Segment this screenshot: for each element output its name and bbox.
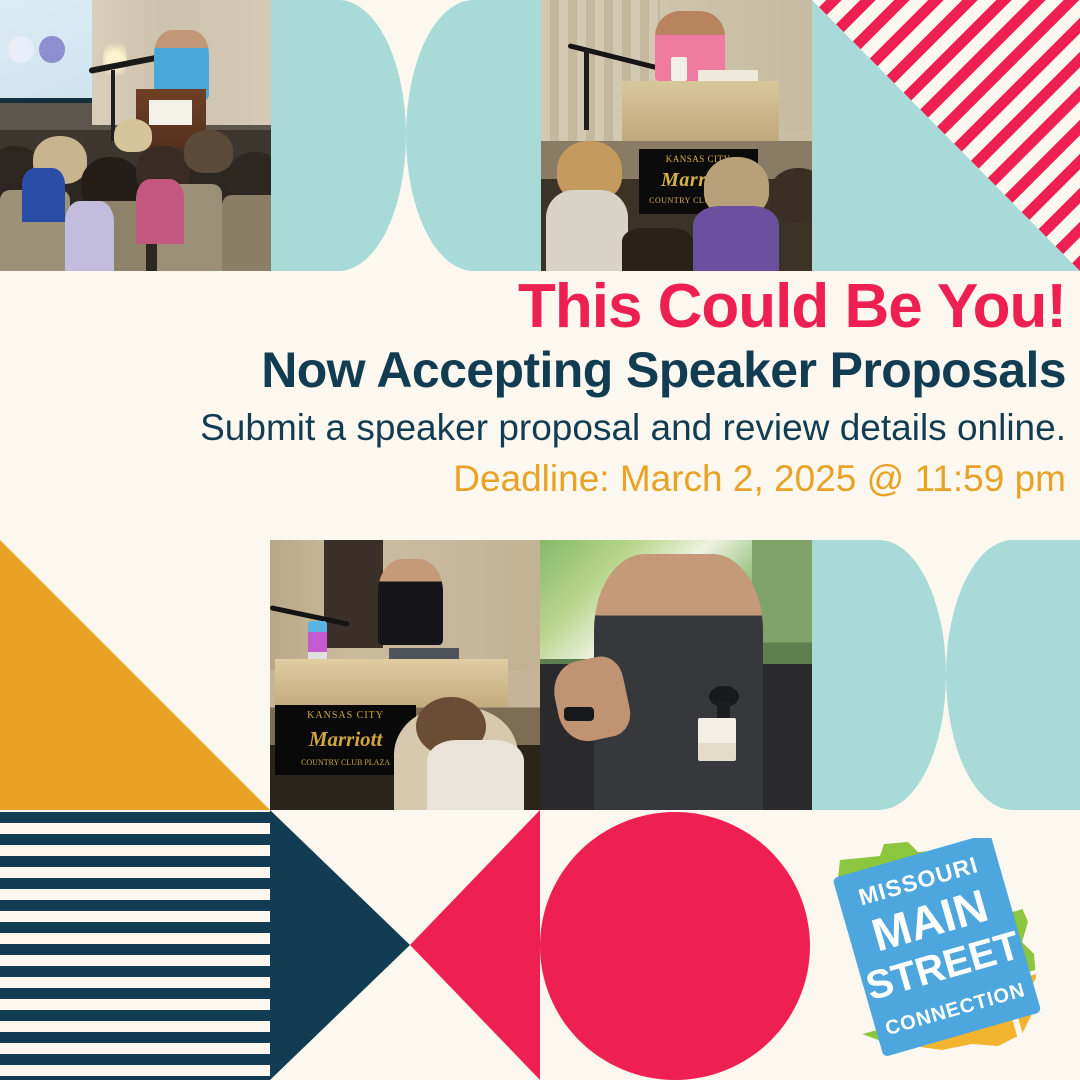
missouri-main-street-connection-logo: MISSOURI MAIN STREET CONNECTION bbox=[822, 838, 1054, 1060]
teal-half-circle-mid-left bbox=[812, 540, 946, 810]
body-copy: Submit a speaker proposal and review det… bbox=[56, 406, 1066, 450]
conference-photo-woman-podium: KANSAS CITY Marriott COUNTRY CLUB PLAZA bbox=[270, 540, 540, 810]
gold-triangle bbox=[0, 540, 270, 810]
crimson-circle bbox=[540, 812, 810, 1080]
page-title: This Could Be You! bbox=[56, 275, 1066, 338]
navy-horizontal-stripes bbox=[0, 812, 270, 1080]
teal-half-circle-top-left bbox=[271, 0, 406, 271]
conference-photo-speaker-audience bbox=[0, 0, 271, 271]
teal-half-circle-mid-right bbox=[946, 540, 1080, 810]
conference-photo-man-microphone bbox=[540, 540, 812, 810]
deadline-notice: Deadline: March 2, 2025 @ 11:59 pm bbox=[56, 457, 1066, 501]
crimson-triangle-left bbox=[410, 810, 540, 1080]
teal-half-circle-top-right bbox=[406, 0, 541, 271]
headline-text-block: This Could Be You! Now Accepting Speaker… bbox=[56, 275, 1066, 501]
conference-photo-woman-speaker: KANSAS CITY Marriott COUNTRY CLUB PLAZA bbox=[541, 0, 812, 271]
poster-canvas: KANSAS CITY Marriott COUNTRY CLUB PLAZA … bbox=[0, 0, 1080, 1080]
page-subtitle: Now Accepting Speaker Proposals bbox=[56, 342, 1066, 398]
navy-triangle-right bbox=[270, 810, 410, 1080]
sign-line-city: KANSAS CITY bbox=[275, 710, 415, 721]
